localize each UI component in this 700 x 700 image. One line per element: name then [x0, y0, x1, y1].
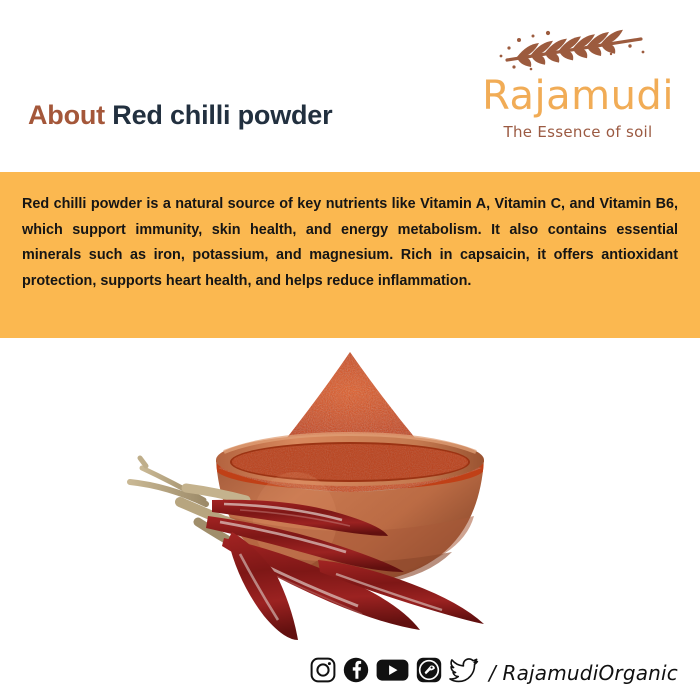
koo-icon[interactable]: [416, 657, 442, 688]
brand-tagline: The Essence of soil: [478, 123, 678, 141]
youtube-icon[interactable]: [376, 657, 409, 688]
footer-social-bar: / RajamudiOrganic: [0, 657, 700, 688]
brand-name: Rajamudi: [478, 74, 678, 118]
page-title-prefix: About: [28, 100, 105, 130]
social-handle[interactable]: / RajamudiOrganic: [489, 661, 678, 685]
twitter-icon[interactable]: [449, 657, 479, 688]
facebook-icon[interactable]: [343, 657, 369, 688]
instagram-icon[interactable]: [310, 657, 336, 688]
about-description: Red chilli powder is a natural source of…: [22, 192, 678, 294]
about-band: Red chilli powder is a natural source of…: [0, 172, 700, 338]
page-title: About Red chilli powder: [28, 100, 332, 131]
wheat-sprig-icon: [478, 26, 678, 72]
social-post-card: Rajamudi The Essence of soil About Red c…: [0, 0, 700, 700]
brand-logo: Rajamudi The Essence of soil: [478, 26, 678, 141]
page-title-product: Red chilli powder: [112, 100, 332, 130]
product-image: [120, 340, 580, 640]
